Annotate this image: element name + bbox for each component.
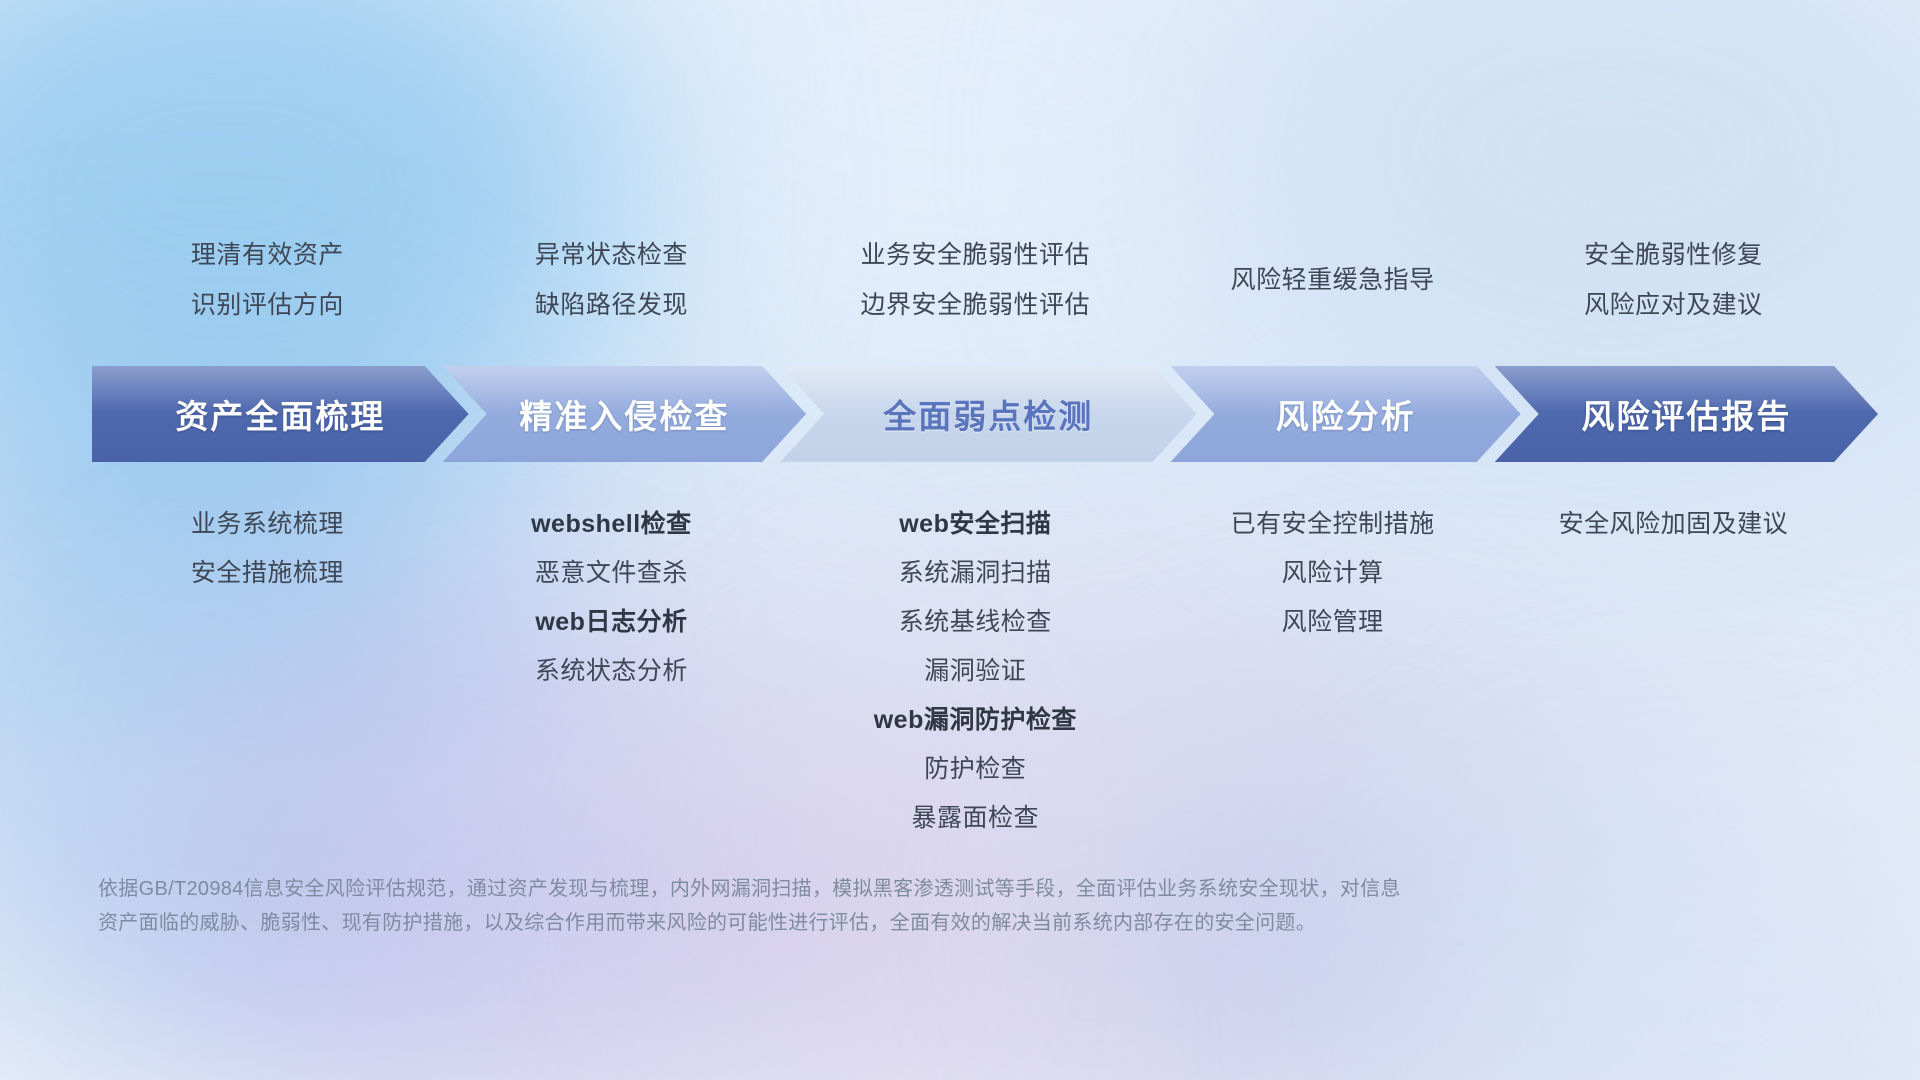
list-item: 安全风险加固及建议 xyxy=(1559,500,1789,549)
process-infographic: 理清有效资产识别评估方向异常状态检查缺陷路径发现业务安全脆弱性评估边界安全脆弱性… xyxy=(0,0,1920,1080)
top-label: 缺陷路径发现 xyxy=(535,285,688,321)
stage-title: 资产全面梳理 xyxy=(175,390,385,438)
list-item: 防护检查 xyxy=(924,745,1026,794)
list-item: 漏洞验证 xyxy=(924,647,1026,696)
stage-chevron-5[interactable]: 风险评估报告 xyxy=(1495,366,1878,462)
top-label-group-4: 风险轻重缓急指导 xyxy=(1170,222,1494,334)
top-label: 安全脆弱性修复 xyxy=(1584,235,1763,271)
stage-detail-list-3: web安全扫描系统漏洞扫描系统基线检查漏洞验证web漏洞防护检查防护检查暴露面检… xyxy=(780,492,1170,843)
list-item: 业务系统梳理 xyxy=(191,500,344,549)
list-item: 已有安全控制措施 xyxy=(1231,500,1435,549)
top-label: 异常状态检查 xyxy=(535,235,688,271)
top-label: 边界安全脆弱性评估 xyxy=(861,285,1091,321)
stage-title: 精准入侵检查 xyxy=(519,390,729,438)
list-item: 安全措施梳理 xyxy=(191,549,344,598)
top-label-group-5: 安全脆弱性修复风险应对及建议 xyxy=(1495,222,1852,334)
stage-title: 风险评估报告 xyxy=(1581,390,1791,438)
list-item: web漏洞防护检查 xyxy=(874,696,1077,745)
list-item: web安全扫描 xyxy=(899,500,1051,549)
top-label: 业务安全脆弱性评估 xyxy=(861,235,1091,271)
list-item: web日志分析 xyxy=(535,598,687,647)
list-item: 暴露面检查 xyxy=(912,794,1040,843)
stage-title: 全面弱点检测 xyxy=(883,390,1093,438)
stage-detail-list-2: webshell检查恶意文件查杀web日志分析系统状态分析 xyxy=(443,492,780,843)
stage-chevron-1[interactable]: 资产全面梳理 xyxy=(92,366,469,462)
list-item: 风险计算 xyxy=(1282,549,1384,598)
list-item: webshell检查 xyxy=(531,500,692,549)
list-item: 系统状态分析 xyxy=(535,647,688,696)
footer-description: 依据GB/T20984信息安全风险评估规范，通过资产发现与梳理，内外网漏洞扫描，… xyxy=(98,872,1628,940)
top-label: 风险轻重缓急指导 xyxy=(1231,260,1435,296)
footer-line-2: 资产面临的威胁、脆弱性、现有防护措施，以及综合作用而带来风险的可能性进行评估，全… xyxy=(98,906,1628,940)
stage-detail-list-1: 业务系统梳理安全措施梳理 xyxy=(92,492,443,843)
list-item: 风险管理 xyxy=(1282,598,1384,647)
stage-detail-list-4: 已有安全控制措施风险计算风险管理 xyxy=(1170,492,1494,843)
list-item: 恶意文件查杀 xyxy=(535,549,688,598)
stage-chevron-4[interactable]: 风险分析 xyxy=(1170,366,1520,462)
list-item: 系统基线检查 xyxy=(899,598,1052,647)
top-label: 风险应对及建议 xyxy=(1584,285,1763,321)
top-labels-row: 理清有效资产识别评估方向异常状态检查缺陷路径发现业务安全脆弱性评估边界安全脆弱性… xyxy=(92,222,1852,334)
footer-line-1: 依据GB/T20984信息安全风险评估规范，通过资产发现与梳理，内外网漏洞扫描，… xyxy=(98,872,1628,906)
top-label-group-2: 异常状态检查缺陷路径发现 xyxy=(443,222,780,334)
stage-chevron-band: 资产全面梳理精准入侵检查全面弱点检测风险分析风险评估报告 xyxy=(92,366,1852,462)
stage-chevron-3[interactable]: 全面弱点检测 xyxy=(780,366,1196,462)
top-label-group-3: 业务安全脆弱性评估边界安全脆弱性评估 xyxy=(780,222,1170,334)
stage-detail-list-5: 安全风险加固及建议 xyxy=(1495,492,1852,843)
stage-details-row: 业务系统梳理安全措施梳理webshell检查恶意文件查杀web日志分析系统状态分… xyxy=(92,492,1852,843)
stage-chevron-2[interactable]: 精准入侵检查 xyxy=(443,366,806,462)
top-label: 理清有效资产 xyxy=(191,235,344,271)
top-label-group-1: 理清有效资产识别评估方向 xyxy=(92,222,443,334)
stage-title: 风险分析 xyxy=(1276,390,1416,438)
top-label: 识别评估方向 xyxy=(191,285,344,321)
list-item: 系统漏洞扫描 xyxy=(899,549,1052,598)
